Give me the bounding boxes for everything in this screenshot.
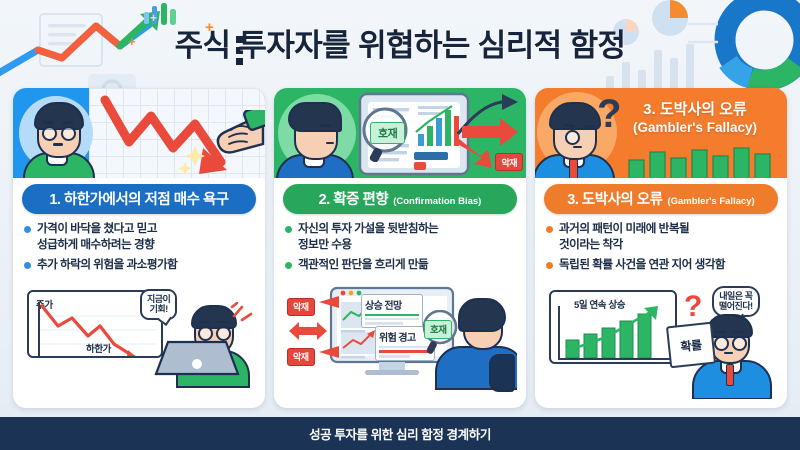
y-axis — [558, 306, 560, 360]
excitement-lines-icon — [230, 302, 256, 326]
headline-card-up: 상승 전망 — [361, 294, 423, 328]
bullet-dot-icon — [285, 226, 292, 233]
bullet-dot-icon — [24, 262, 31, 269]
headline-up-text: 상승 전망 — [365, 297, 419, 312]
card-confirmation-bias[interactable]: 호재 악재 2. 확증 편향 (Confirmation Bias) — [274, 88, 526, 408]
card3-title-badge: 3. 도박사의 오류 (Gambler's Fallacy) — [544, 184, 778, 214]
chart-label-lower-limit: 하한가 — [86, 341, 111, 355]
bullet-dot-icon — [546, 262, 553, 269]
card-lower-limit-bottom-fishing[interactable]: 1. 하한가에서의 저점 매수 욕구 가격이 바닥을 쳤다고 믿고 성급하게 매… — [13, 88, 265, 408]
card3-title-en: (Gambler's Fallacy) — [667, 196, 754, 207]
bullet-item: 객관적인 판단을 흐리게 만듦 — [285, 257, 516, 273]
double-arrow-icon — [287, 320, 329, 342]
arrow-left-2-icon — [315, 346, 339, 358]
question-mark-icon-2: ? — [684, 290, 702, 324]
footer-bar: 성공 투자를 위한 심리 함정 경계하기 — [0, 417, 800, 450]
card3-hero-title-ko: 3. 도박사의 오류 — [643, 101, 747, 118]
card2-hero-illustration: 호재 악재 — [274, 88, 526, 178]
bad-news-label-2: 악재 — [287, 348, 315, 366]
card3-title-ko: 3. 도박사의 오류 — [567, 188, 662, 209]
bullet-text: 과거의 패턴이 미래에 반복될 것이라는 착각 — [559, 221, 689, 252]
x-axis — [558, 358, 676, 360]
card2-title-ko: 2. 확증 편향 — [319, 188, 389, 209]
bullet-item: 독립된 확률 사건을 연관 지어 생각함 — [546, 257, 777, 273]
card2-title-badge: 2. 확증 편향 (Confirmation Bias) — [283, 184, 517, 214]
card2-title-en: (Confirmation Bias) — [393, 196, 481, 207]
card1-scene-illustration: 주가 하한가 지금이 기회! — [22, 284, 256, 399]
bullet-item: 자신의 투자 가설을 뒷받침하는 정보만 수용 — [285, 221, 516, 252]
card1-bullets: 가격이 바닥을 쳤다고 믿고 성급하게 매수하려는 경향 추가 하락의 위험을 … — [13, 214, 265, 282]
card2-scene-illustration: 상승 전망 위험 경고 악재 악재 — [283, 284, 517, 399]
bullet-text: 가격이 바닥을 쳤다고 믿고 성급하게 매수하려는 경향 — [37, 221, 157, 252]
rising-bars-icon — [627, 144, 779, 178]
bullet-text: 자신의 투자 가설을 뒷받침하는 정보만 수용 — [298, 221, 438, 252]
card1-title-badge: 1. 하한가에서의 저점 매수 욕구 — [22, 184, 256, 214]
rising-bars-chart-icon — [560, 306, 676, 360]
laptop-icon — [154, 340, 240, 384]
card3-hero-title-en: (Gambler's Fallacy) — [633, 120, 757, 135]
card3-hero-title: 3. 도박사의 오류 (Gambler's Fallacy) — [609, 98, 781, 137]
bullet-dot-icon — [24, 226, 31, 233]
footer-text: 성공 투자를 위한 심리 함정 경계하기 — [309, 424, 491, 443]
reaching-hand-icon — [185, 110, 265, 170]
bad-news-label: 악재 — [495, 153, 523, 171]
card3-hero-illustration: ? 3. 도박사의 오류 (Gambler's Fallacy) — [535, 88, 787, 178]
bullet-text: 독립된 확률 사건을 연관 지어 생각함 — [559, 257, 725, 273]
page-title: 주식 투자자를 위협하는 심리적 함정 — [0, 20, 800, 65]
good-news-label-2: 호재 — [424, 320, 452, 339]
card-gamblers-fallacy[interactable]: ? 3. 도박사의 오류 (Gambler's Fallacy) — [535, 88, 787, 408]
probability-card: 확률 — [666, 321, 716, 368]
bullet-text: 객관적인 판단을 흐리게 만듦 — [298, 257, 428, 273]
bullet-item: 추가 하락의 위험을 과소평가함 — [24, 257, 255, 273]
bullet-item: 과거의 패턴이 미래에 반복될 것이라는 착각 — [546, 221, 777, 252]
card1-hero-illustration — [13, 88, 265, 178]
good-news-label: 호재 — [370, 122, 405, 144]
card2-bullets: 자신의 투자 가설을 뒷받침하는 정보만 수용 객관적인 판단을 흐리게 만듦 — [274, 214, 526, 282]
bullet-dot-icon — [285, 262, 292, 269]
bullet-item: 가격이 바닥을 쳤다고 믿고 성급하게 매수하려는 경향 — [24, 221, 255, 252]
cards-row: 1. 하한가에서의 저점 매수 욕구 가격이 바닥을 쳤다고 믿고 성급하게 매… — [0, 88, 800, 408]
x-axis — [38, 356, 156, 358]
card3-scene-illustration: 5일 연속 상승 ? 내일은 꼭 떨어진다! — [544, 284, 778, 399]
card1-title-ko: 1. 하한가에서의 저점 매수 욕구 — [49, 188, 228, 209]
infographic-page: + + + — [0, 0, 800, 450]
bullet-dot-icon — [546, 226, 553, 233]
card3-bullets: 과거의 패턴이 미래에 반복될 것이라는 착각 독립된 확률 사건을 연관 지어… — [535, 214, 787, 282]
probability-card-label: 확률 — [680, 335, 703, 354]
bad-news-label-1: 악재 — [287, 298, 315, 316]
bullet-text: 추가 하락의 위험을 과소평가함 — [37, 257, 177, 273]
y-axis — [38, 302, 40, 358]
header: 주식 투자자를 위협하는 심리적 함정 — [0, 0, 800, 84]
arrow-left-1-icon — [315, 296, 339, 308]
speech-bubble-now-is-the-chance: 지금이 기회! — [140, 289, 177, 321]
speech-bubble-tomorrow-drop: 내일은 꼭 떨어진다! — [712, 286, 760, 318]
